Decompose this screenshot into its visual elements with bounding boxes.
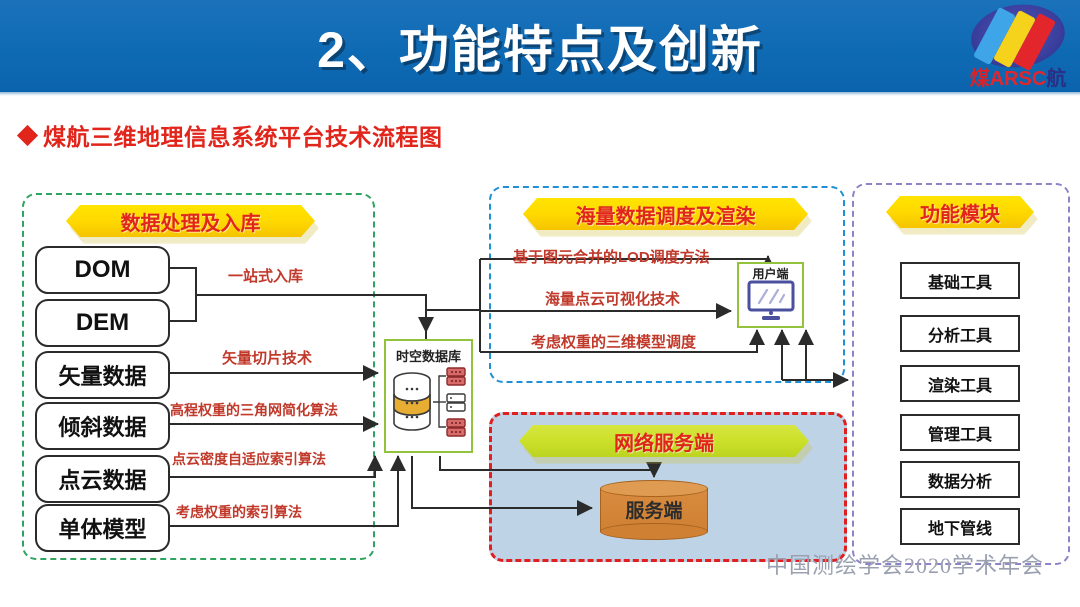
banner-data-processing-label: 数据处理及入库	[121, 207, 261, 236]
data-box-vector-label: 矢量数据	[58, 359, 146, 391]
banner-function-modules-label: 功能模块	[920, 198, 1000, 227]
logo-text-cn-right: 航	[1046, 68, 1066, 90]
method-label-lod-scheduling: 基于图元合并的LOD调度方法	[513, 246, 710, 267]
watermark-text: 中国测绘学会2020学术年会	[766, 548, 1044, 580]
client-box[interactable]: 用户端	[737, 262, 804, 328]
banner-network-service-label: 网络服务端	[614, 427, 714, 456]
function-module-data-analysis-label: 数据分析	[928, 468, 992, 492]
server-cylinder[interactable]: 服务端	[600, 480, 708, 536]
function-module-basic-tools[interactable]: 基础工具	[900, 262, 1020, 299]
function-module-data-analysis[interactable]: 数据分析	[900, 461, 1020, 498]
function-module-analysis-tools[interactable]: 分析工具	[900, 315, 1020, 352]
data-box-vector[interactable]: 矢量数据	[35, 351, 170, 399]
function-module-render-tools-label: 渲染工具	[928, 372, 992, 396]
data-box-oblique-label: 倾斜数据	[58, 410, 146, 442]
banner-network-service: 网络服务端	[519, 425, 809, 457]
data-box-dem[interactable]: DEM	[35, 299, 170, 347]
algo-label-tin-simplify: 高程权重的三角网简化算法	[170, 400, 338, 420]
banner-massive-data-label: 海量数据调度及渲染	[576, 200, 756, 229]
function-module-render-tools[interactable]: 渲染工具	[900, 365, 1020, 402]
data-box-single-model[interactable]: 单体模型	[35, 504, 170, 552]
banner-function-modules: 功能模块	[886, 196, 1034, 228]
slide-canvas: 2、功能特点及创新 煤ARSC航 煤航三维地理信息系统平台技术流程图	[0, 0, 1080, 607]
section-subtitle-text: 煤航三维地理信息系统平台技术流程图	[43, 118, 443, 152]
banner-massive-data: 海量数据调度及渲染	[523, 198, 808, 230]
function-module-underground-pipeline[interactable]: 地下管线	[900, 508, 1020, 545]
data-box-dem-label: DEM	[76, 309, 129, 337]
logo-text-cn-left: 煤	[970, 68, 990, 90]
spatiotemporal-database-box[interactable]: 时空数据库	[384, 339, 473, 453]
server-bottom-ellipse	[600, 523, 708, 540]
logo-text-en: ARSC	[990, 68, 1047, 90]
data-box-dom[interactable]: DOM	[35, 246, 170, 294]
algo-label-vector-tiling: 矢量切片技术	[222, 347, 312, 368]
banner-data-processing: 数据处理及入库	[66, 205, 315, 237]
data-box-pointcloud[interactable]: 点云数据	[35, 455, 170, 503]
data-box-dom-label: DOM	[75, 256, 131, 284]
server-top-ellipse	[600, 480, 708, 497]
section-subtitle: 煤航三维地理信息系统平台技术流程图	[20, 118, 443, 152]
function-module-manage-tools[interactable]: 管理工具	[900, 414, 1020, 451]
database-icon	[386, 363, 471, 451]
algo-label-weighted-index: 考虑权重的索引算法	[176, 502, 302, 522]
server-label: 服务端	[600, 496, 708, 523]
arsc-logo: 煤ARSC航	[963, 4, 1073, 92]
function-module-manage-tools-label: 管理工具	[928, 421, 992, 445]
header-underline	[0, 92, 1080, 96]
data-box-pointcloud-label: 点云数据	[58, 463, 146, 495]
method-label-pointcloud-visualization: 海量点云可视化技术	[545, 288, 680, 309]
function-module-underground-pipeline-label: 地下管线	[928, 515, 992, 539]
function-module-basic-tools-label: 基础工具	[928, 269, 992, 293]
monitor-icon	[743, 280, 799, 322]
method-label-weighted-3d-model: 考虑权重的三维模型调度	[531, 331, 696, 352]
logo-wordmark: 煤ARSC航	[963, 62, 1073, 91]
algo-label-one-stop-import: 一站式入库	[228, 265, 303, 286]
function-module-analysis-tools-label: 分析工具	[928, 322, 992, 346]
diamond-bullet-icon	[17, 124, 38, 145]
page-title: 2、功能特点及创新	[230, 4, 850, 88]
data-box-oblique[interactable]: 倾斜数据	[35, 402, 170, 450]
algo-label-pointcloud-index: 点云密度自适应索引算法	[172, 449, 326, 469]
data-box-single-model-label: 单体模型	[58, 512, 146, 544]
